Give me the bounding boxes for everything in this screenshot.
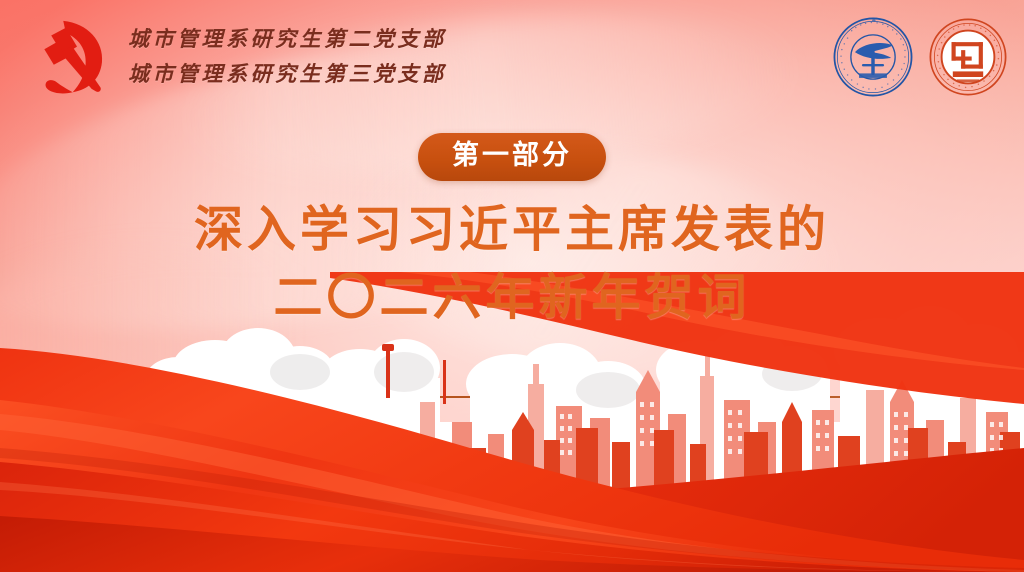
header: 城市管理系研究生第二党支部 城市管理系研究生第三党支部	[28, 14, 447, 100]
school-of-public-administration-seal-icon	[928, 17, 1008, 97]
header-line-1: 城市管理系研究生第二党支部	[128, 24, 447, 56]
header-text-lines: 城市管理系研究生第二党支部 城市管理系研究生第三党支部	[128, 24, 447, 91]
title-line-1: 深入学习习近平主席发表的	[0, 196, 1024, 264]
logo-group	[832, 16, 1008, 98]
hammer-and-sickle-icon	[28, 14, 114, 100]
slide-canvas: 城市管理系研究生第二党支部 城市管理系研究生第三党支部	[0, 0, 1024, 572]
part-badge-label: 第一部分	[452, 140, 572, 172]
title-line-2: 二〇二六年新年贺词	[0, 264, 1024, 332]
hust-university-seal-icon	[832, 16, 914, 98]
header-line-2: 城市管理系研究生第三党支部	[128, 59, 447, 91]
page-title: 深入学习习近平主席发表的 二〇二六年新年贺词	[0, 196, 1024, 331]
part-badge: 第一部分	[418, 133, 606, 181]
